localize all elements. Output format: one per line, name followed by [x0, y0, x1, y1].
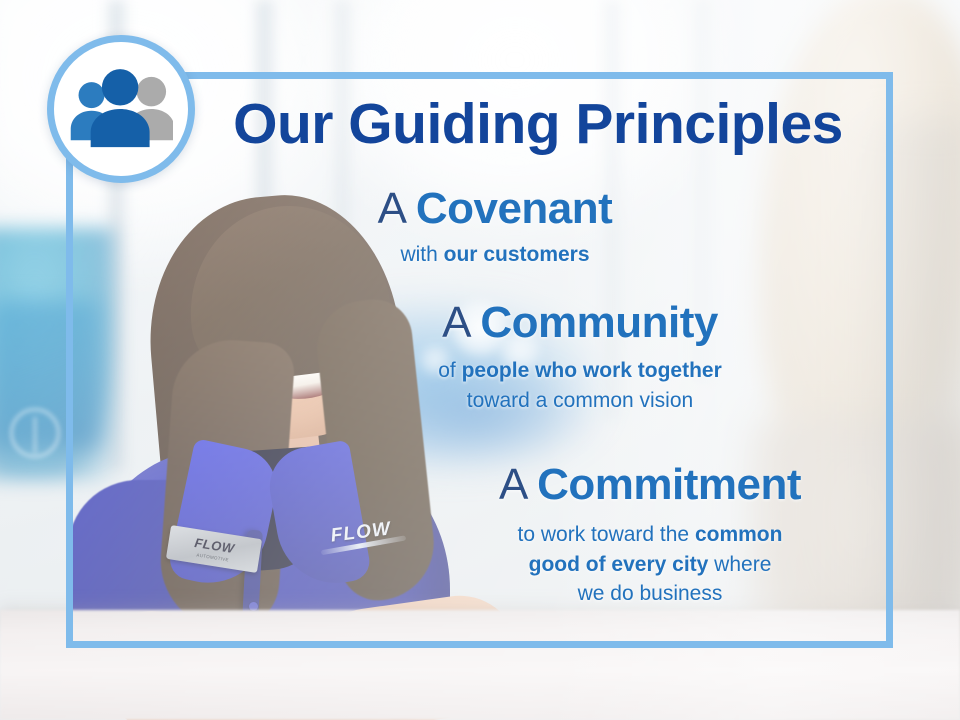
principle-3-sub-line2-lite: where — [708, 553, 771, 576]
principle-2-subtitle: of people who work together toward a com… — [380, 356, 780, 416]
principle-3-sub-line1-bold: common — [695, 523, 783, 546]
principle-community: A Community of people who work together … — [380, 300, 780, 415]
principle-1-sub-lite: with — [400, 243, 443, 266]
guiding-principles-graphic: FLOW AUTOMOTIVE FLOW — [0, 0, 960, 720]
principle-3-sub-line1-lite: to work toward the — [518, 523, 695, 546]
principle-2-sub-bold: people who work together — [462, 359, 722, 382]
page-title: Our Guiding Principles — [213, 96, 863, 153]
people-badge — [47, 35, 195, 183]
principle-1-keyword: Covenant — [416, 184, 612, 233]
principle-3-headline: A Commitment — [440, 462, 860, 508]
principle-1-headline: A Covenant — [300, 186, 690, 232]
counter-desk — [0, 610, 960, 720]
principle-2-sub-line1: of people who work together — [380, 356, 780, 386]
principle-3-sub-line2: good of every city where — [440, 550, 860, 580]
vw-logo-icon — [10, 408, 60, 458]
principle-1-subtitle: with our customers — [300, 240, 690, 270]
principle-commitment: A Commitment to work toward the common g… — [440, 462, 860, 609]
principle-1-sub-bold: our customers — [444, 243, 590, 266]
principle-3-sub-line1: to work toward the common — [440, 520, 860, 550]
principle-3-article: A — [499, 460, 525, 509]
principle-2-keyword: Community — [480, 298, 718, 347]
principle-covenant: A Covenant with our customers — [300, 186, 690, 270]
people-group-icon — [69, 69, 173, 149]
principle-3-keyword: Commitment — [537, 460, 801, 509]
principle-2-sub-lite: of — [438, 359, 461, 382]
principle-1-article: A — [378, 184, 404, 233]
principle-2-headline: A Community — [380, 300, 780, 346]
principle-2-sub-line2: toward a common vision — [380, 386, 780, 416]
principle-3-sub-line3: we do business — [440, 579, 860, 609]
principle-3-sub-line2-bold: good of every city — [529, 553, 709, 576]
principle-2-article: A — [442, 298, 468, 347]
principle-3-subtitle: to work toward the common good of every … — [440, 520, 860, 609]
